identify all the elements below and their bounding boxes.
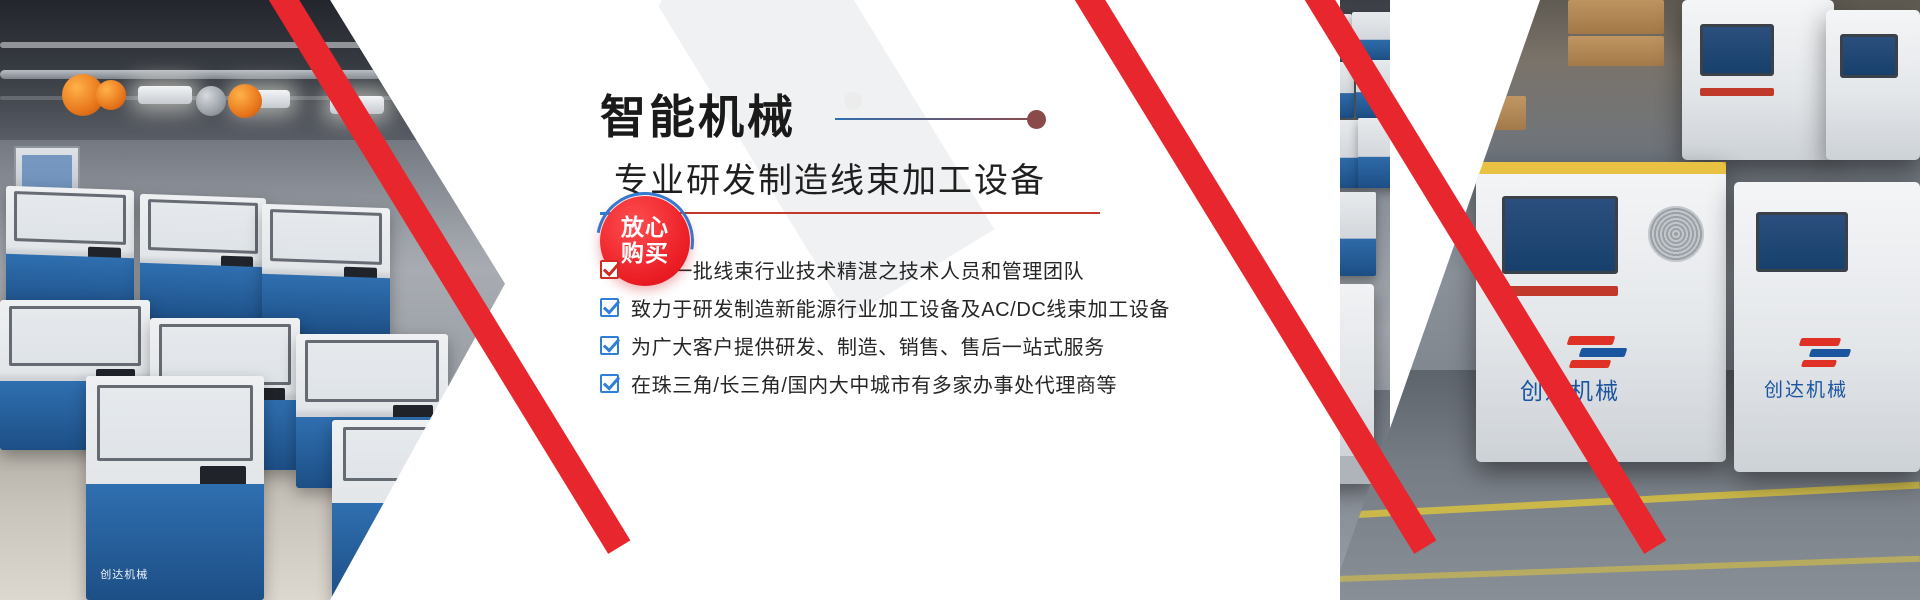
subtitle-row: 专业研发制造线束加工设备 [600,162,1300,214]
banner-subtitle: 专业研发制造线束加工设备 [614,162,1046,201]
banner-title: 智能机械 [600,94,796,140]
badge-line-2: 购买 [621,241,669,267]
promotional-banner: 创达机械 创达机械 [0,0,1920,600]
machine-brand-left: 创达机械 [100,566,148,582]
list-item: 拥有一批线束行业技术精湛之技术人员和管理团队 [600,250,1300,288]
check-icon [600,374,619,393]
feature-text: 拥有一批线束行业技术精湛之技术人员和管理团队 [631,255,1084,284]
banner-content: 智能机械 专业研发制造线束加工设备 放心 购买 拥有一批线束行业技术精湛之技术人… [600,92,1300,402]
check-icon [600,336,619,355]
decorative-line [835,118,1035,120]
decorative-dot-red [1027,110,1046,129]
company-logo-mark [1568,336,1628,370]
underline-red [648,212,1100,214]
title-row: 智能机械 [600,92,1300,150]
feature-list: 拥有一批线束行业技术精湛之技术人员和管理团队 致力于研发制造新能源行业加工设备及… [600,250,1300,402]
check-icon [600,260,619,279]
badge-line-1: 放心 [621,215,669,241]
list-item: 致力于研发制造新能源行业加工设备及AC/DC线束加工设备 [600,288,1300,326]
check-icon [600,298,619,317]
machine-unit-front-left: 创达机械 [86,376,264,600]
list-item: 在珠三角/长三角/国内大中城市有多家办事处代理商等 [600,364,1300,402]
list-item: 为广大客户提供研发、制造、销售、售后一站式服务 [600,326,1300,364]
feature-text: 致力于研发制造新能源行业加工设备及AC/DC线束加工设备 [631,293,1170,322]
machine-touchscreen [1502,196,1618,274]
machine-brand-right2: 创达机械 [1764,375,1848,402]
feature-text: 为广大客户提供研发、制造、销售、售后一站式服务 [631,331,1105,360]
decorative-dot-grey [844,92,862,110]
feature-text: 在珠三角/长三角/国内大中城市有多家办事处代理商等 [631,369,1117,398]
